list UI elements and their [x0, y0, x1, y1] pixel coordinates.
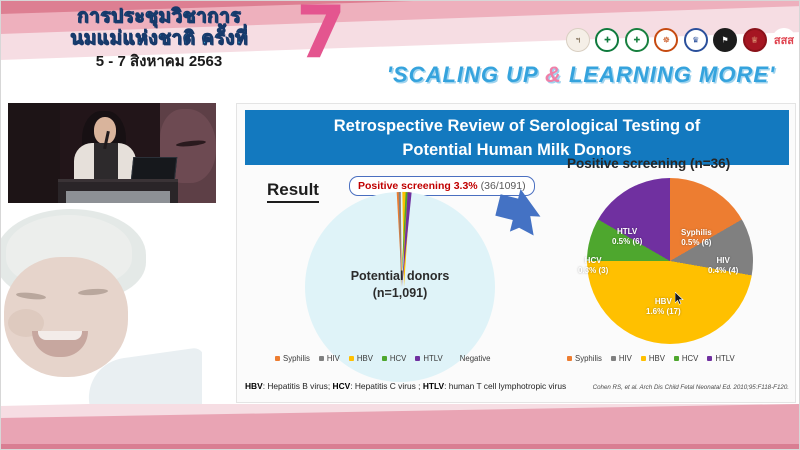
- legend-item-hcv: HCV: [382, 354, 406, 363]
- baby-teeth: [38, 331, 82, 340]
- tagline-part-1: 'SCALING UP: [387, 62, 545, 87]
- logo-sss-icon: สสส: [772, 28, 796, 52]
- legend2-label-htlv: HTLV: [715, 354, 734, 363]
- edition-number: 7: [296, 0, 346, 68]
- legend2-item-hbv: HBV: [641, 354, 665, 363]
- slice-label-hcv-name: HCV: [578, 256, 608, 266]
- pie-center-label-line-1: Potential donors: [305, 268, 495, 285]
- legend-label-htlv: HTLV: [423, 354, 442, 363]
- fn-hbv-def: : Hepatitis B virus;: [263, 381, 333, 391]
- slide-footnote: HBV: Hepatitis B virus; HCV: Hepatitis C…: [245, 381, 789, 391]
- legend-item-hbv: HBV: [349, 354, 373, 363]
- fn-htlv-def: : human T cell lymphotropic virus: [444, 381, 566, 391]
- pie-center-label-line-2: (n=1,091): [305, 285, 495, 302]
- legend-swatch-hcv: [382, 356, 387, 361]
- legend-potential-donors: Syphilis HIV HBV HCV HTLV Negative: [275, 354, 491, 363]
- baby-photo-watermark: [0, 205, 202, 420]
- positive-screening-pie-chart: Positive screening (n=36) Syphilis 0.5% …: [565, 156, 779, 378]
- fn-hcv: HCV: [333, 381, 351, 391]
- slice-label-hiv-value: 0.4% (4): [708, 266, 738, 276]
- slice-label-hbv-value: 1.6% (17): [646, 307, 681, 317]
- logo-red-crest-icon: ♕: [743, 28, 767, 52]
- legend-positive-screening: Syphilis HIV HBV HCV HTLV: [567, 354, 735, 363]
- pie-center-label: Potential donors (n=1,091): [305, 268, 495, 302]
- laptop-icon: [131, 157, 178, 181]
- sponsor-logo-row: ฯ ✚ ✚ ☸ ♛ ⚑ ♕ สสส: [566, 26, 796, 54]
- legend-item-hiv: HIV: [319, 354, 340, 363]
- logo-royal-seal-icon: ฯ: [566, 28, 590, 52]
- legend-label-syphilis: Syphilis: [283, 354, 310, 363]
- legend-item-htlv: HTLV: [415, 354, 442, 363]
- tagline-part-2: LEARNING MORE': [562, 62, 775, 87]
- logo-thai-emblem-orange-icon: ☸: [654, 28, 678, 52]
- legend2-item-syphilis: Syphilis: [567, 354, 602, 363]
- legend2-item-htlv: HTLV: [707, 354, 734, 363]
- legend2-swatch-hcv: [674, 356, 679, 361]
- mouse-cursor-icon: [675, 292, 684, 305]
- legend-item-negative: Negative: [452, 354, 491, 363]
- conference-date: 5 - 7 สิงหาคม 2563: [14, 52, 304, 72]
- footer-band: [0, 404, 800, 450]
- slice-label-hiv-name: HIV: [708, 256, 738, 266]
- legend2-label-hbv: HBV: [649, 354, 665, 363]
- slice-label-syphilis-value: 0.5% (6): [681, 238, 712, 248]
- slice-label-hcv-value: 0.3% (3): [578, 266, 608, 276]
- slice-label-syphilis: Syphilis 0.5% (6): [681, 228, 712, 248]
- positive-screening-title: Positive screening (n=36): [565, 156, 779, 171]
- presentation-screen: การประชุมวิชาการ นมแม่แห่งชาติ ครั้งที่ …: [0, 0, 800, 450]
- logo-thai-emblem-blue-icon: ♛: [684, 28, 708, 52]
- source-citation: Cohen RS, et al. Arch Dis Child Fetal Ne…: [593, 384, 789, 391]
- legend-swatch-htlv: [415, 356, 420, 361]
- slide-title-line-1: Retrospective Review of Serological Test…: [334, 114, 700, 138]
- legend2-swatch-htlv: [707, 356, 712, 361]
- thai-title-line-1: การประชุมวิชาการ: [14, 6, 304, 28]
- slice-label-syphilis-name: Syphilis: [681, 228, 712, 238]
- fn-hbv: HBV: [245, 381, 263, 391]
- logo-black-circle-icon: ⚑: [713, 28, 737, 52]
- legend2-label-syphilis: Syphilis: [575, 354, 602, 363]
- slice-label-hiv: HIV 0.4% (4): [708, 256, 738, 276]
- video-left-wall: [8, 103, 60, 203]
- legend2-label-hcv: HCV: [682, 354, 698, 363]
- slice-label-hcv: HCV 0.3% (3): [578, 256, 608, 276]
- down-right-arrow-icon: [495, 188, 549, 236]
- legend-label-hbv: HBV: [357, 354, 373, 363]
- slide-content-area: Retrospective Review of Serological Test…: [236, 103, 796, 403]
- legend-item-syphilis: Syphilis: [275, 354, 310, 363]
- slice-label-htlv-name: HTLV: [612, 227, 642, 237]
- conference-thai-title: การประชุมวิชาการ นมแม่แห่งชาติ ครั้งที่ …: [14, 6, 304, 72]
- legend-label-hiv: HIV: [327, 354, 340, 363]
- legend-swatch-syphilis: [275, 356, 280, 361]
- tagline-ampersand: &: [545, 62, 562, 87]
- slice-label-htlv-value: 0.5% (6): [612, 237, 642, 247]
- legend-label-hcv: HCV: [390, 354, 406, 363]
- conference-tagline: 'SCALING UP & LEARNING MORE': [366, 62, 796, 88]
- legend-swatch-negative: [452, 356, 457, 361]
- footer-stripe-dark: [0, 444, 800, 450]
- podium-base: [66, 191, 170, 203]
- legend2-swatch-syphilis: [567, 356, 572, 361]
- legend-swatch-hbv: [349, 356, 354, 361]
- legend2-item-hiv: HIV: [611, 354, 632, 363]
- legend-label-negative: Negative: [460, 354, 491, 363]
- legend2-swatch-hiv: [611, 356, 616, 361]
- conference-banner: การประชุมวิชาการ นมแม่แห่งชาติ ครั้งที่ …: [0, 0, 800, 95]
- logo-ministry-health-1-icon: ✚: [595, 28, 619, 52]
- legend2-item-hcv: HCV: [674, 354, 698, 363]
- legend-swatch-hiv: [319, 356, 324, 361]
- abbreviation-key: HBV: Hepatitis B virus; HCV: Hepatitis C…: [245, 381, 566, 391]
- fn-hcv-def: : Hepatitis C virus ;: [350, 381, 423, 391]
- speaker-video-thumbnail[interactable]: [8, 103, 216, 203]
- legend2-label-hiv: HIV: [619, 354, 632, 363]
- logo-ministry-health-2-icon: ✚: [625, 28, 649, 52]
- callout-primary-text: Positive screening 3.3%: [358, 180, 478, 192]
- slice-label-htlv: HTLV 0.5% (6): [612, 227, 642, 247]
- fn-htlv: HTLV: [423, 381, 444, 391]
- legend2-swatch-hbv: [641, 356, 646, 361]
- thai-title-line-2: นมแม่แห่งชาติ ครั้งที่: [14, 28, 304, 50]
